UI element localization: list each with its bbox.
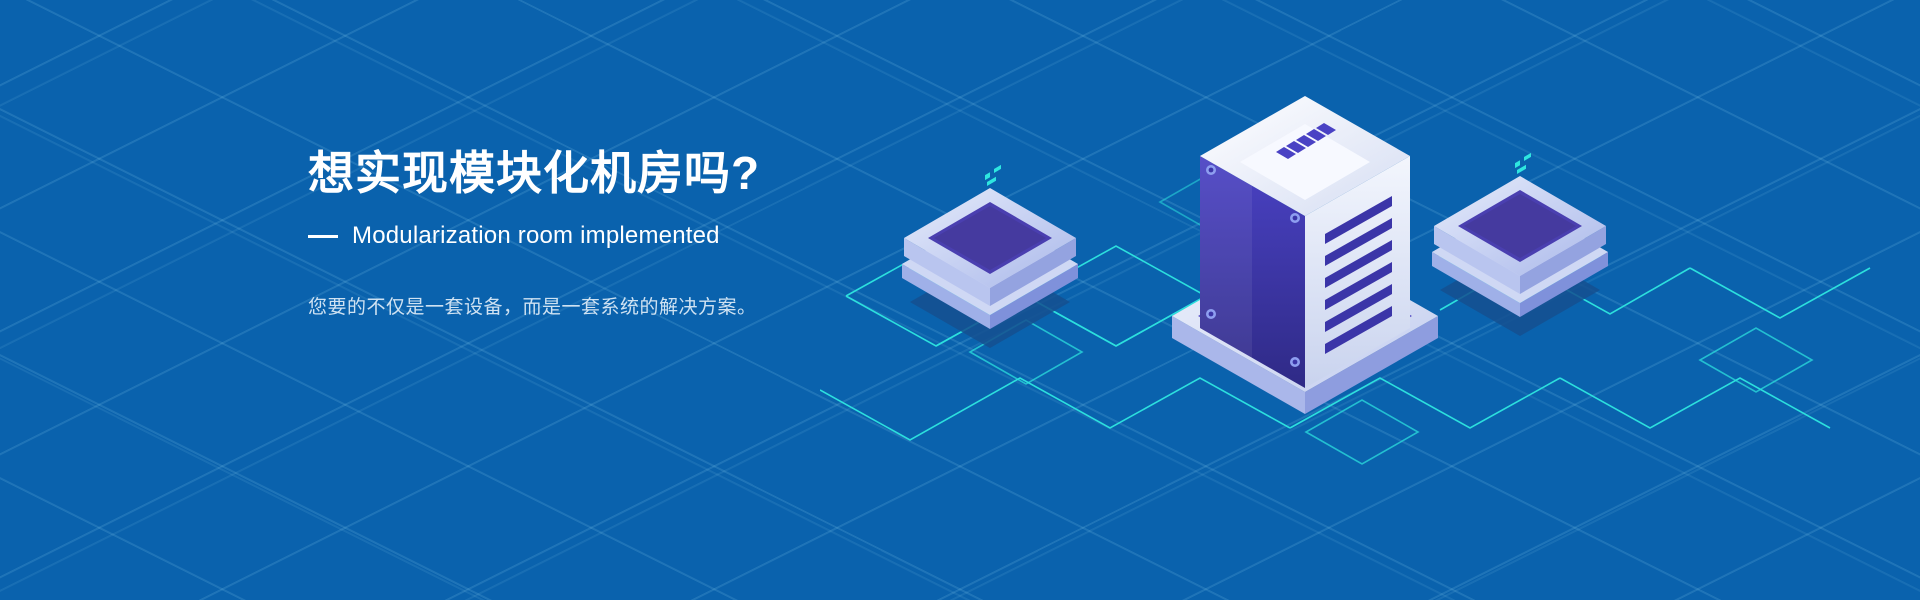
chip-logo-icon bbox=[985, 165, 1001, 186]
subheadline: Modularization room implemented bbox=[352, 222, 720, 250]
chip-module-left bbox=[902, 165, 1078, 348]
isometric-server-illustration bbox=[820, 60, 1920, 540]
server-tower bbox=[1172, 96, 1438, 414]
dash-accent-icon bbox=[308, 235, 338, 238]
chip-module-right bbox=[1432, 153, 1608, 336]
chip-logo-icon bbox=[1515, 153, 1531, 174]
hero-banner: 想实现模块化机房吗? Modularization room implement… bbox=[0, 0, 1920, 600]
